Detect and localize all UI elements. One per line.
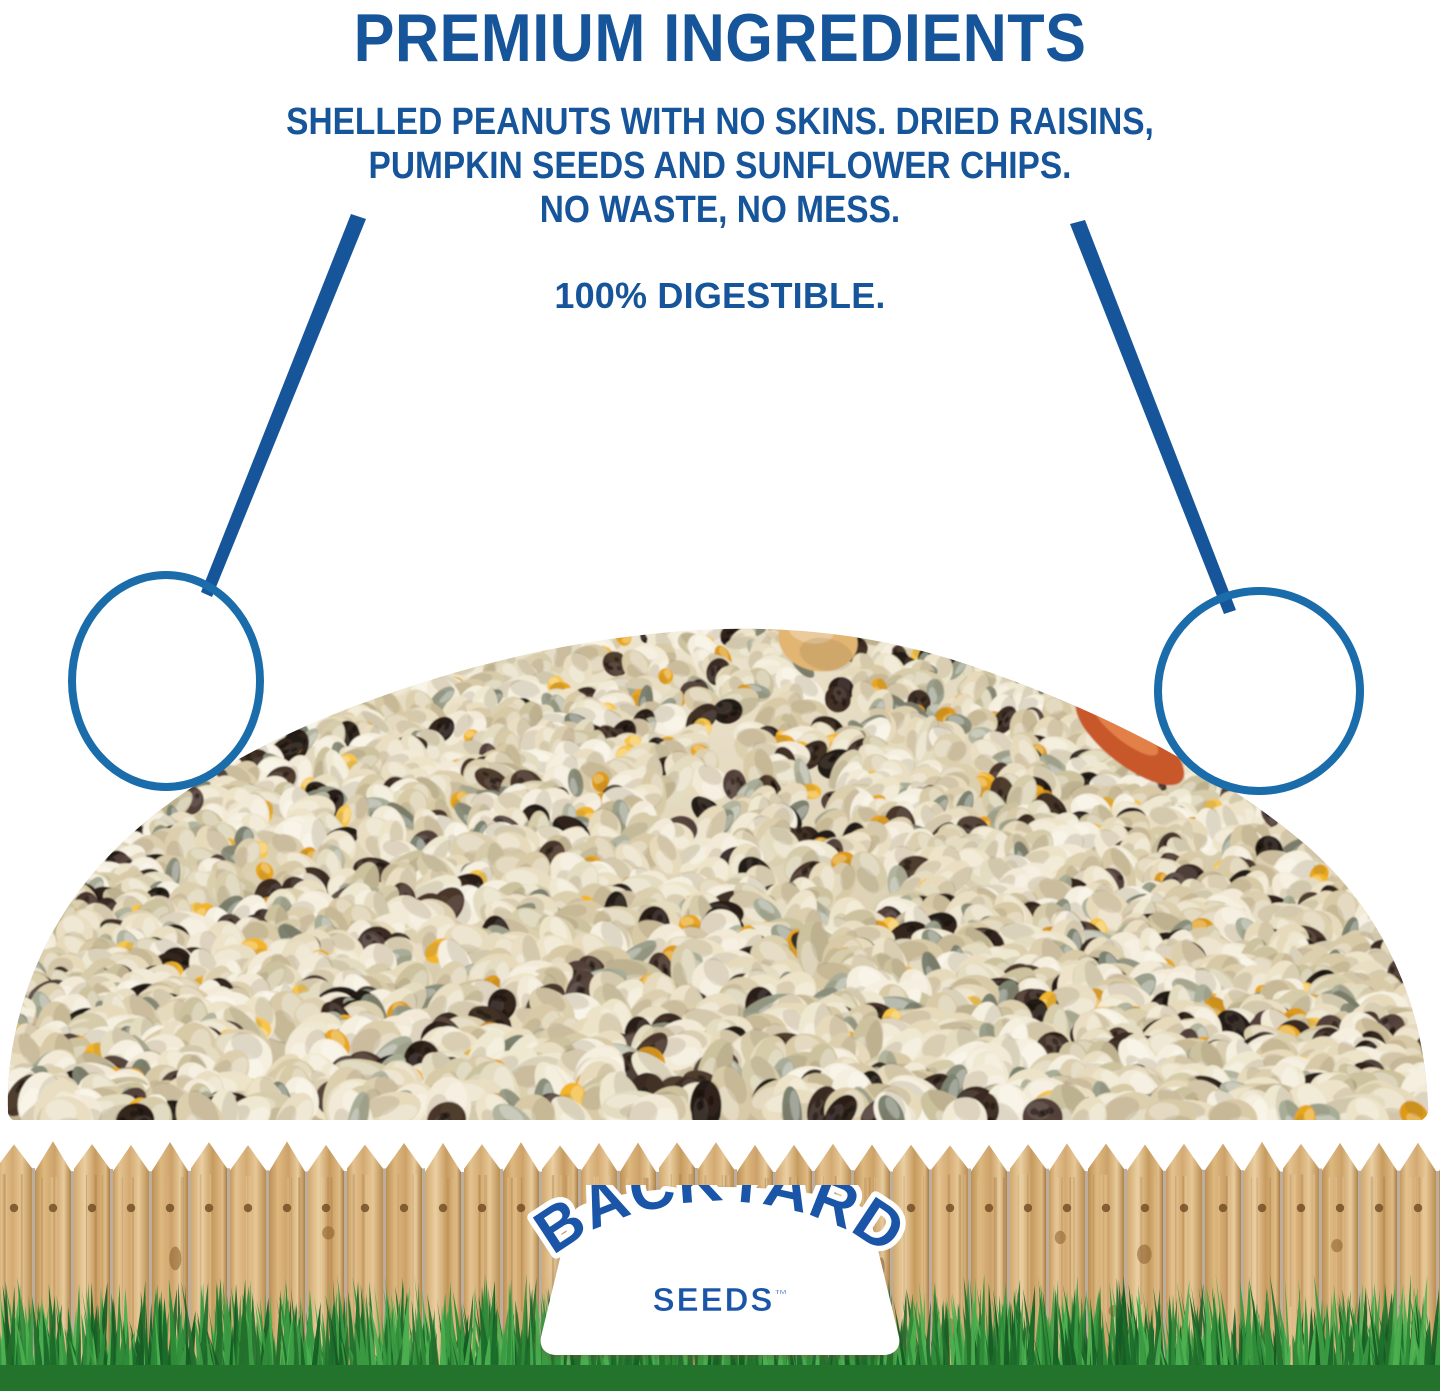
fence-nail [283,1204,291,1212]
fence-nail [478,1204,486,1212]
subhead-line-3: NO WASTE, NO MESS. [86,188,1353,232]
fence-nail [400,1204,408,1212]
fence-nail [1375,1204,1383,1212]
fence-nail [1024,1204,1032,1212]
fence-nail [49,1204,57,1212]
product-photo [0,340,1440,1140]
fence-nail [1258,1204,1266,1212]
ingredients-description: SHELLED PEANUTS WITH NO SKINS. DRIED RAI… [86,100,1353,232]
fence-nail [88,1204,96,1212]
fence-nail [10,1204,18,1212]
fence-nail [244,1204,252,1212]
brand-logo: BACKYARD BACKYARD SEEDS™ [495,1185,945,1360]
page-title: PREMIUM INGREDIENTS [72,0,1368,74]
fence-nail [1219,1204,1227,1212]
fence-nail [1414,1204,1422,1212]
fence-nail [127,1204,135,1212]
fence-nail [1336,1204,1344,1212]
trademark-symbol: ™ [774,1287,787,1302]
seed-pile-illustration [0,340,1440,1140]
brand-subtitle: SEEDS™ [495,1281,945,1319]
fence-nail [1102,1204,1110,1212]
fence-nail [439,1204,447,1212]
headline-block: PREMIUM INGREDIENTS SHELLED PEANUTS WITH… [0,0,1440,316]
fence-nail [1297,1204,1305,1212]
brand-subtitle-text: SEEDS [653,1281,775,1318]
product-marketing-image: PREMIUM INGREDIENTS SHELLED PEANUTS WITH… [0,0,1440,1391]
fence-nail [166,1204,174,1212]
brand-logo-graphic: BACKYARD BACKYARD [495,1185,945,1360]
fence-nail [1063,1204,1071,1212]
fence-nail [946,1204,954,1212]
subhead-line-1: SHELLED PEANUTS WITH NO SKINS. DRIED RAI… [86,100,1353,144]
fence-nail [985,1204,993,1212]
fence-nail [1141,1204,1149,1212]
fence-nail [205,1204,213,1212]
fence-nail [361,1204,369,1212]
subhead-line-2: PUMPKIN SEEDS AND SUNFLOWER CHIPS. [86,144,1353,188]
grass-base [0,1365,1440,1391]
fence-nail [322,1204,330,1212]
fence-nail [1180,1204,1188,1212]
digestible-claim: 100% DIGESTIBLE. [0,276,1440,316]
